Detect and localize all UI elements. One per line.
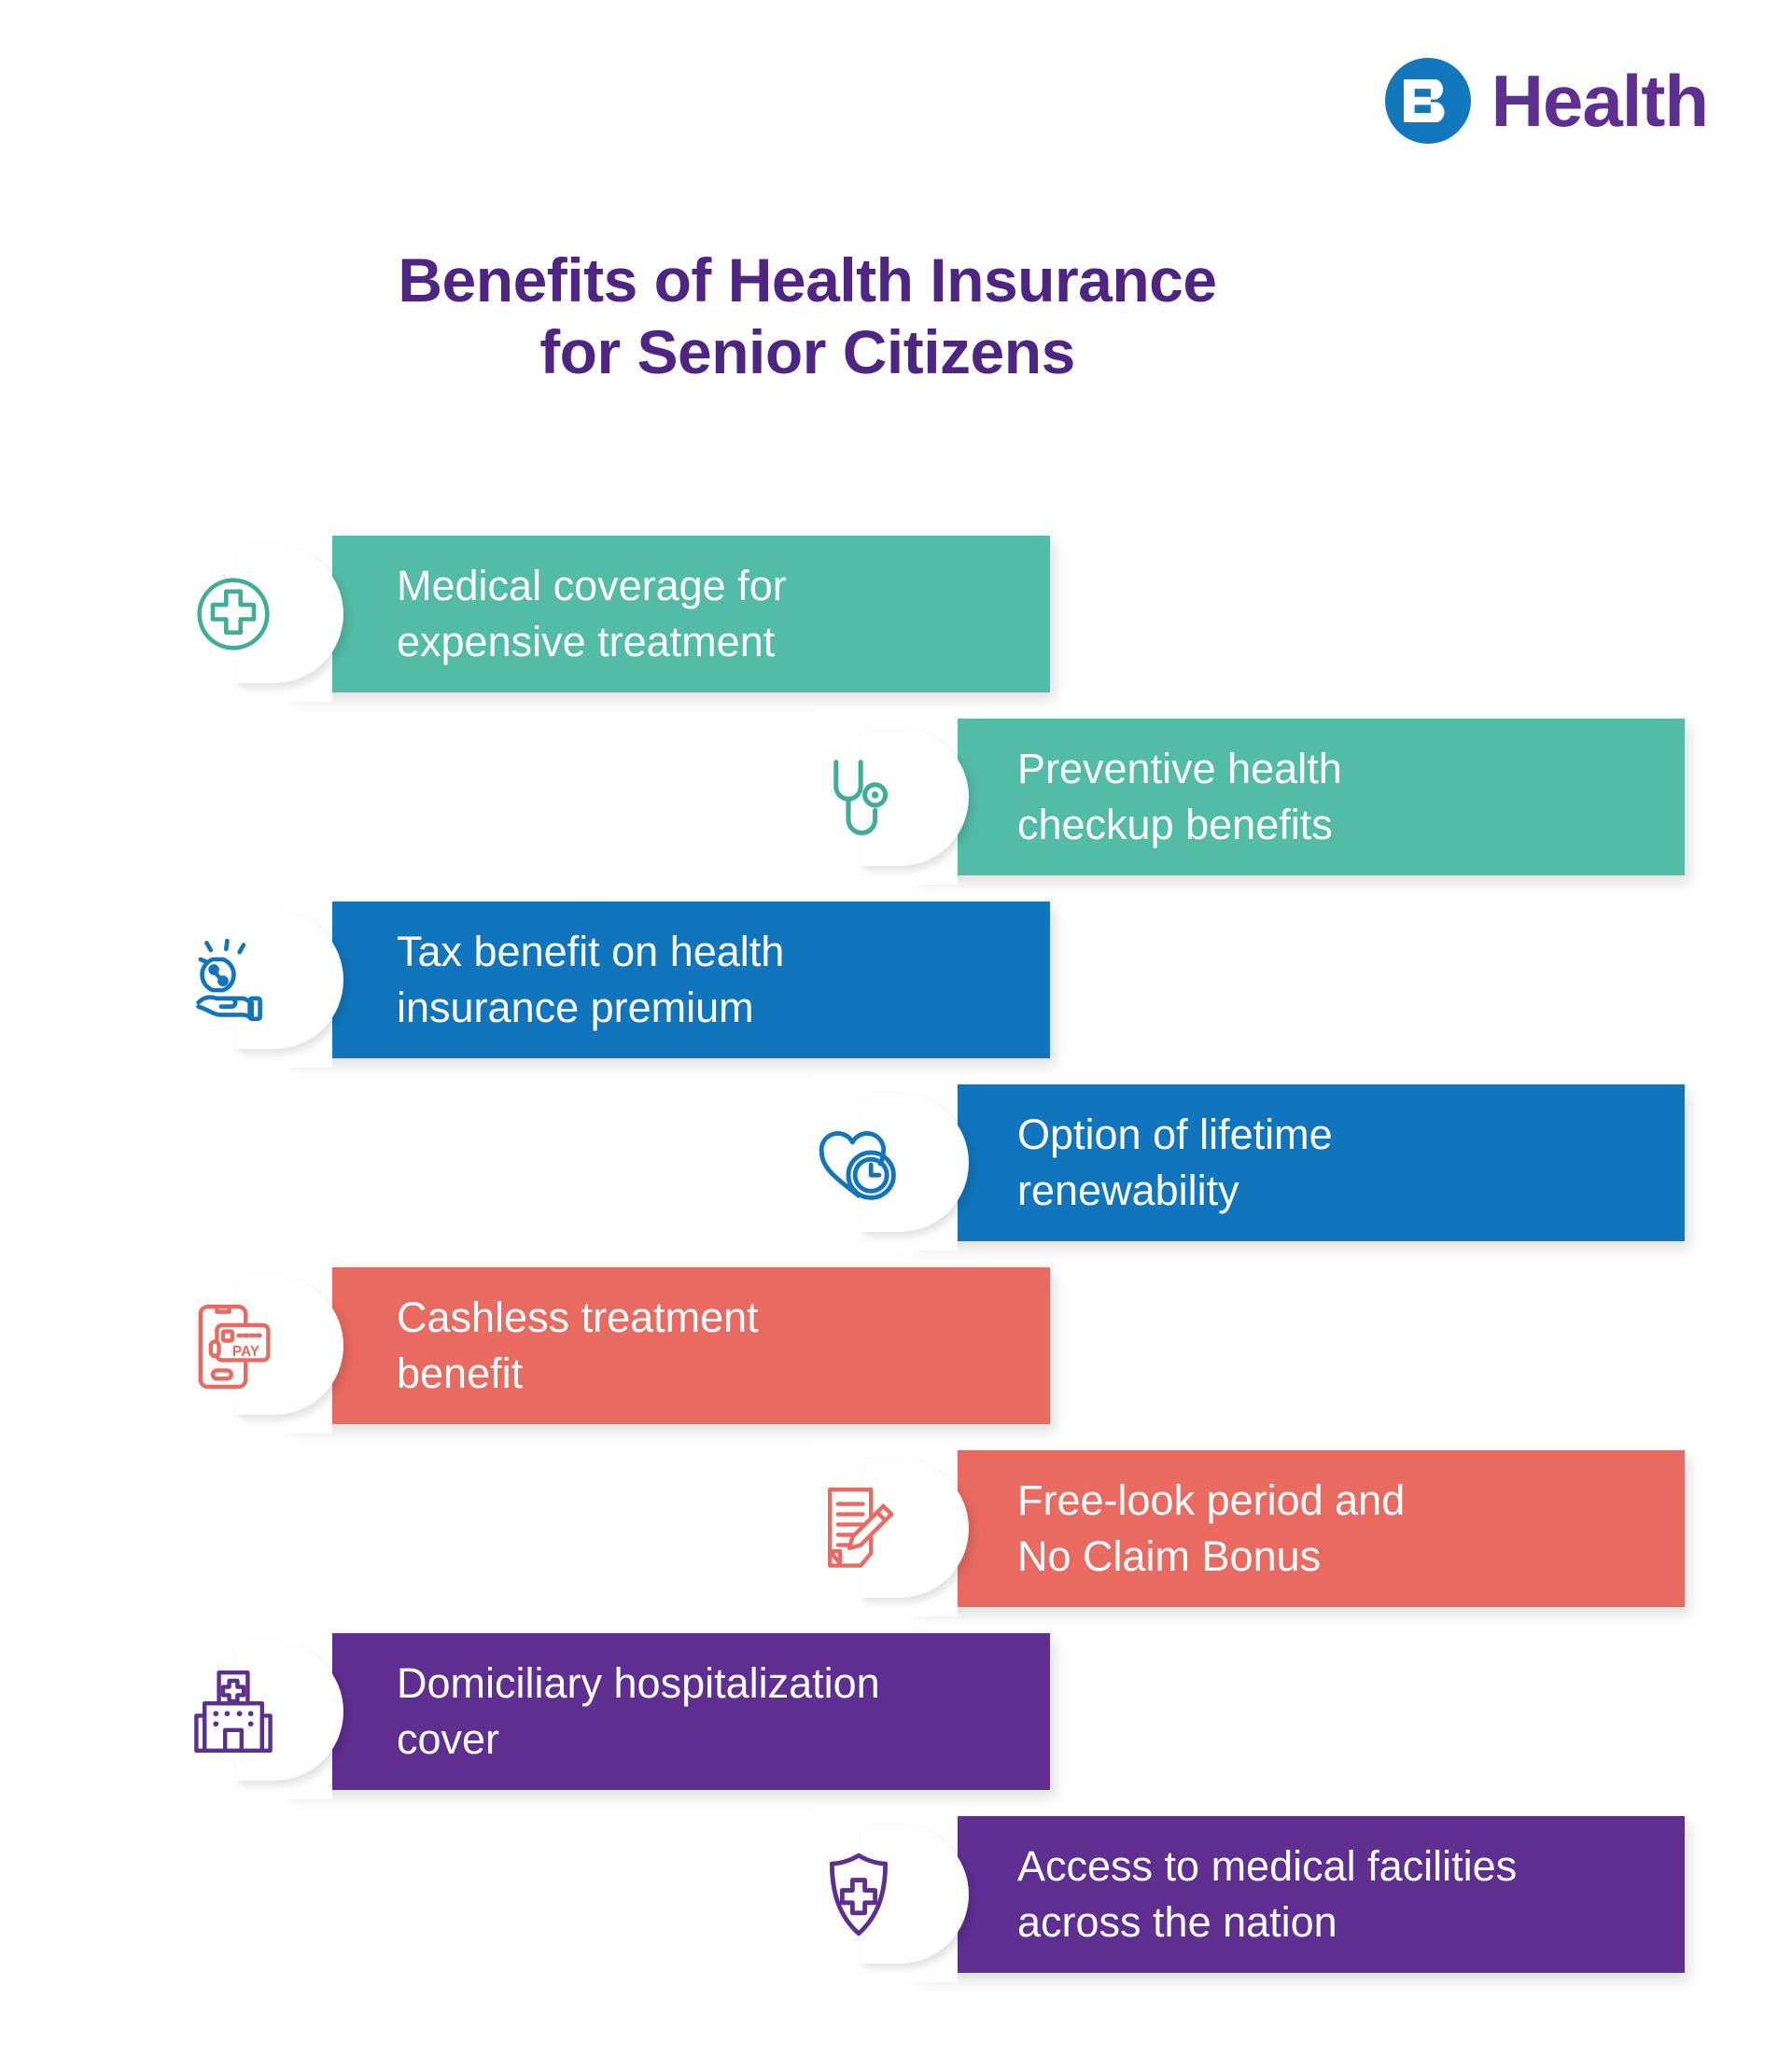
- list-item[interactable]: Cashless treatment benefit PAY: [0, 1251, 1792, 1441]
- benefit-label: Option of lifetime renewability: [1017, 1107, 1333, 1219]
- benefit-label: Medical coverage for expensive treatment: [397, 558, 787, 670]
- page-title-line-1: Benefits of Health Insurance: [0, 245, 1615, 316]
- brand-logo: Health: [1385, 58, 1708, 144]
- svg-text:PAY: PAY: [232, 1344, 260, 1360]
- list-item[interactable]: Option of lifetime renewability: [0, 1068, 1792, 1258]
- benefit-label: Preventive health checkup benefits: [1017, 741, 1342, 853]
- list-item[interactable]: Tax benefit on health insurance premium: [0, 885, 1792, 1075]
- shield-cross-icon: [784, 1807, 933, 1982]
- page-title: Benefits of Health Insurance for Senior …: [0, 245, 1792, 388]
- benefit-bar: Access to medical facilities across the …: [910, 1816, 1685, 1973]
- bajaj-b-logo-icon: [1385, 58, 1471, 144]
- hand-money-percent-icon: [159, 892, 308, 1068]
- list-item[interactable]: Domiciliary hospitalization cover: [0, 1616, 1792, 1807]
- benefit-label: Cashless treatment benefit: [397, 1290, 759, 1402]
- benefit-label: Domiciliary hospitalization cover: [397, 1656, 880, 1768]
- benefit-bar: Domiciliary hospitalization cover: [285, 1633, 1050, 1790]
- hospital-building-icon: [159, 1624, 308, 1799]
- medical-cross-circle-icon: [159, 526, 308, 702]
- benefit-bar: Tax benefit on health insurance premium: [285, 902, 1050, 1058]
- benefit-bar: Cashless treatment benefit: [285, 1267, 1050, 1424]
- benefit-bar: Free-look period and No Claim Bonus: [910, 1450, 1685, 1607]
- list-item[interactable]: Free-look period and No Claim Bonus: [0, 1433, 1792, 1624]
- benefit-bar: Preventive health checkup benefits: [910, 719, 1685, 875]
- stethoscope-icon: [784, 709, 933, 885]
- list-item[interactable]: Access to medical facilities across the …: [0, 1799, 1792, 1990]
- benefits-list: Medical coverage for expensive treatment…: [0, 519, 1792, 1982]
- brand-logo-text: Health: [1491, 64, 1708, 137]
- list-item[interactable]: Preventive health checkup benefits: [0, 702, 1792, 892]
- benefit-label: Tax benefit on health insurance premium: [397, 924, 784, 1036]
- benefit-bar: Medical coverage for expensive treatment: [285, 536, 1050, 692]
- document-pencil-icon: [784, 1441, 933, 1616]
- benefit-bar: Option of lifetime renewability: [910, 1084, 1685, 1241]
- mobile-card-pay-icon: PAY: [159, 1258, 308, 1433]
- page-title-line-2: for Senior Citizens: [0, 316, 1615, 388]
- list-item[interactable]: Medical coverage for expensive treatment: [0, 519, 1792, 709]
- benefit-label: Access to medical facilities across the …: [1017, 1838, 1517, 1950]
- heart-clock-icon: [784, 1075, 933, 1251]
- benefit-label: Free-look period and No Claim Bonus: [1017, 1473, 1405, 1585]
